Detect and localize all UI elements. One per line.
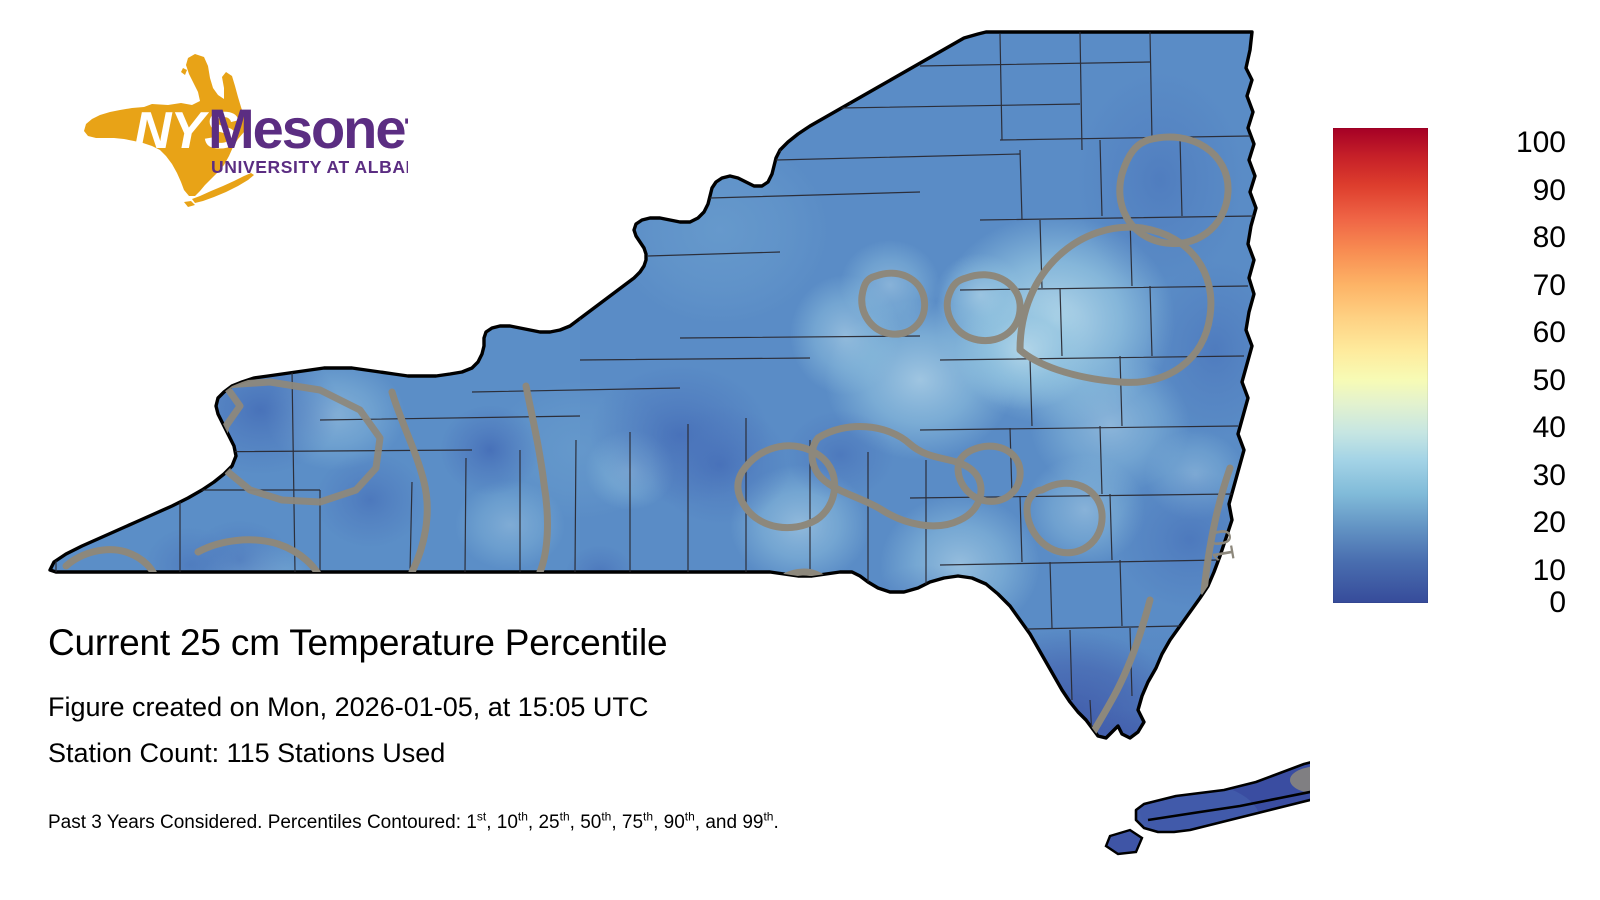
colorbar-tick-60: 60 <box>1431 318 1566 348</box>
footnote-percentile-value: 10 <box>497 812 518 833</box>
colorbar-tick-80: 80 <box>1431 223 1566 253</box>
figure-created-timestamp: Figure created on Mon, 2026-01-05, at 15… <box>48 684 1048 730</box>
footnote-separator: , <box>653 812 664 833</box>
colorbar-tick-90: 90 <box>1431 176 1566 206</box>
percentile-colorbar: 100 90 80 70 60 50 40 30 20 10 0 <box>1333 120 1573 620</box>
colorbar-tick-10: 10 <box>1431 556 1566 586</box>
footnote-separator: , and <box>695 812 743 833</box>
contour-label-10: 10 <box>1203 526 1241 565</box>
footnote-percentile-ordinal: th <box>763 810 773 824</box>
figure-canvas: NYS Mesonet UNIVERSITY AT ALBANY <box>0 0 1600 900</box>
footnote-percentile-ordinal: th <box>601 810 611 824</box>
colorbar-tick-40: 40 <box>1431 413 1566 443</box>
footnote-percentile-value: 50 <box>580 812 601 833</box>
footnote-percentile-value: 25 <box>538 812 559 833</box>
footnote-percentile-value: 1 <box>466 812 477 833</box>
footnote-separator: , <box>486 812 497 833</box>
colorbar-tick-100: 100 <box>1431 128 1566 158</box>
footnote-separator: , <box>570 812 581 833</box>
colorbar-gradient <box>1333 128 1428 603</box>
footnote-percentile-list: 1st, 10th, 25th, 50th, 75th, 90th, and 9… <box>466 812 773 833</box>
footnote-percentile-value: 75 <box>622 812 643 833</box>
percentile-footnote: Past 3 Years Considered. Percentiles Con… <box>48 810 1048 836</box>
footnote-percentile-ordinal: th <box>643 810 653 824</box>
footnote-separator: , <box>528 812 539 833</box>
colorbar-tick-0: 0 <box>1431 588 1566 618</box>
colorbar-tick-20: 20 <box>1431 508 1566 538</box>
footnote-percentile-ordinal: th <box>560 810 570 824</box>
footnote-percentile-value: 90 <box>664 812 685 833</box>
colorbar-tick-30: 30 <box>1431 461 1566 491</box>
page-title: Current 25 cm Temperature Percentile <box>48 618 1048 668</box>
figure-caption-block: Current 25 cm Temperature Percentile Fig… <box>48 618 1048 836</box>
colorbar-tick-50: 50 <box>1431 366 1566 396</box>
station-count-text: Station Count: 115 Stations Used <box>48 730 1048 776</box>
footnote-percentile-ordinal: st <box>477 810 486 824</box>
footnote-separator: , <box>611 812 622 833</box>
footnote-suffix: . <box>773 812 778 833</box>
colorbar-tick-70: 70 <box>1431 271 1566 301</box>
colorbar-tick-labels: 100 90 80 70 60 50 40 30 20 10 0 <box>1431 120 1571 620</box>
footnote-percentile-ordinal: th <box>685 810 695 824</box>
footnote-prefix: Past 3 Years Considered. Percentiles Con… <box>48 812 466 833</box>
footnote-percentile-ordinal: th <box>518 810 528 824</box>
footnote-percentile-value: 99 <box>742 812 763 833</box>
